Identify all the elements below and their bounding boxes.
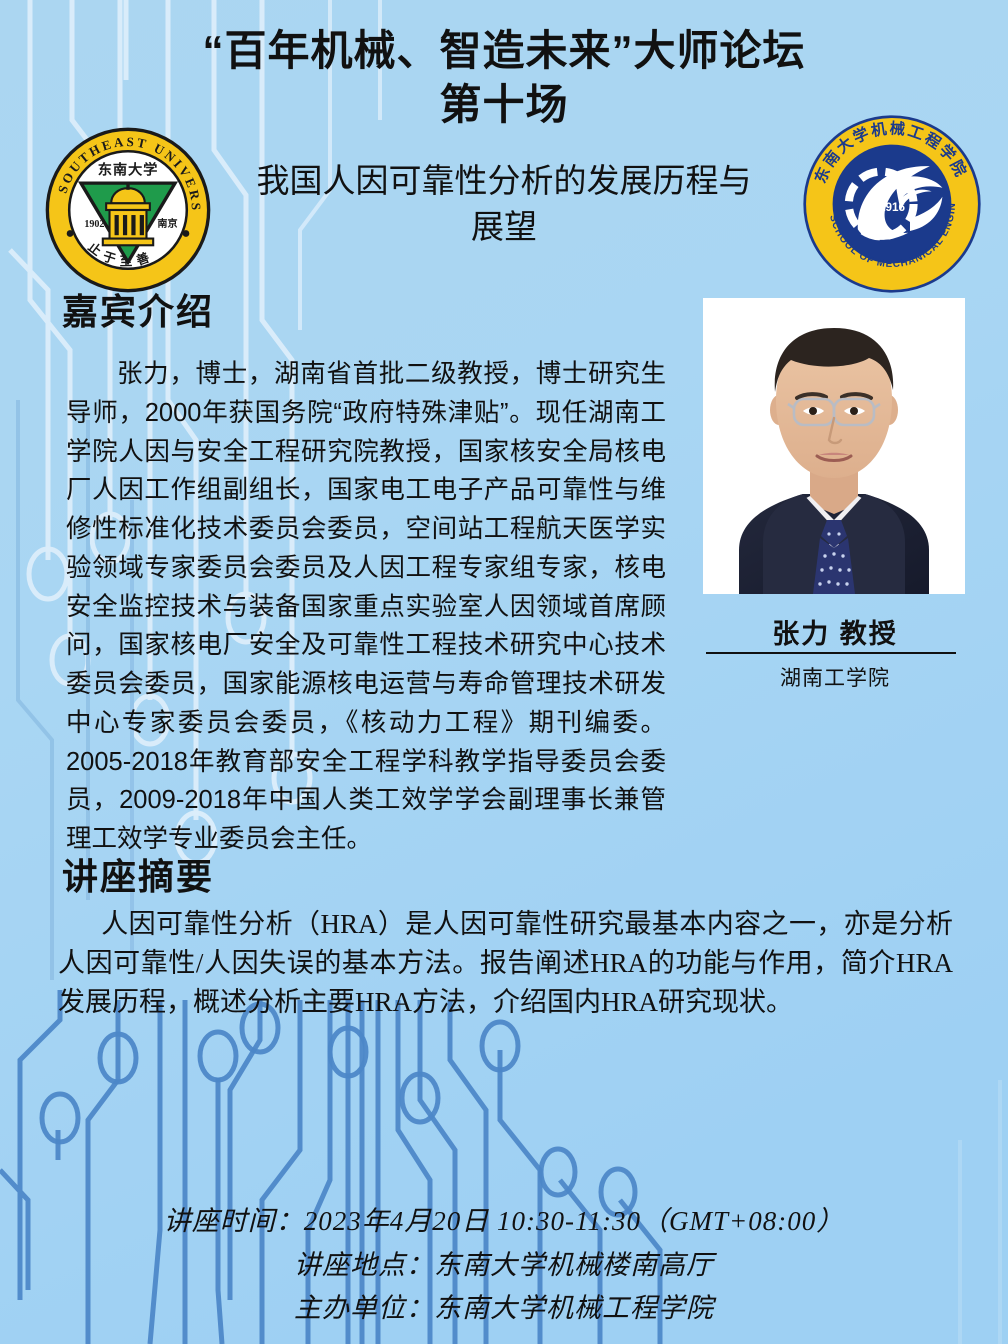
svg-text:1902: 1902: [84, 219, 104, 230]
poster-footer: 讲座时间：2023年4月20日 10:30-11:30（GMT+08:00） 讲…: [0, 1200, 1008, 1331]
guest-bio-text: 张力，博士，湖南省首批二级教授，博士研究生导师，2000年获国务院“政府特殊津贴…: [66, 355, 666, 859]
lecture-organizer: 主办单位：东南大学机械工程学院: [0, 1287, 1008, 1331]
speaker-affiliation: 湖南工学院: [690, 662, 980, 692]
subtitle-line-1: 我国人因可靠性分析的发展历程与: [178, 160, 830, 206]
svg-text:1916: 1916: [879, 201, 906, 214]
southeast-university-seal-icon: SOUTHEAST UNIVERSITY 止于至善 东南大学: [44, 126, 212, 294]
svg-text:东南大学: 东南大学: [98, 161, 158, 179]
speaker-name: 张力 教授: [690, 612, 980, 651]
abstract-body-text: 人因可靠性分析（HRA）是人因可靠性研究最基本内容之一，亦是分析人因可靠性/人因…: [58, 905, 953, 1022]
title-line-1: “百年机械、智造未来”大师论坛: [0, 24, 1008, 78]
svg-text:南京: 南京: [157, 217, 177, 230]
poster-subtitle: 我国人因可靠性分析的发展历程与 展望: [178, 160, 830, 251]
abstract-section-heading: 讲座摘要: [62, 848, 214, 900]
poster-canvas: “百年机械、智造未来”大师论坛 第十场 我国人因可靠性分析的发展历程与 展望 S…: [0, 0, 1008, 1344]
school-of-mechanical-engineering-logo-icon: 东南大学机械工程学院 SCHOOL OF MECHANICAL ENGINEER…: [802, 114, 982, 294]
lecture-place: 讲座地点：东南大学机械楼南高厅: [0, 1244, 1008, 1288]
speaker-divider: [706, 652, 956, 654]
lecture-time: 讲座时间：2023年4月20日 10:30-11:30（GMT+08:00）: [0, 1200, 1008, 1244]
speaker-photo: [703, 298, 965, 594]
subtitle-line-2: 展望: [178, 206, 830, 252]
